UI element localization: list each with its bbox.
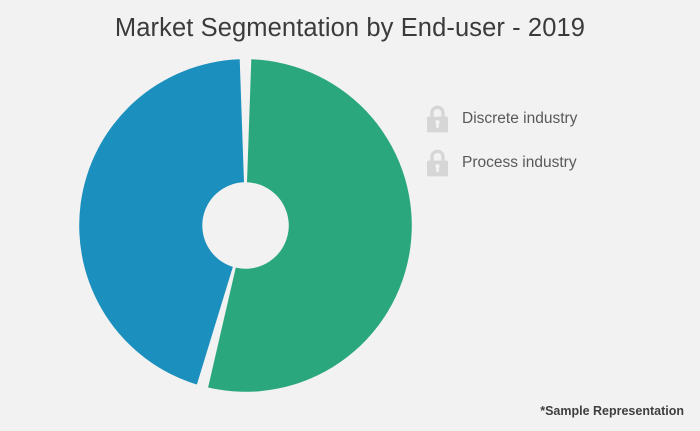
- lock-icon: [424, 148, 451, 178]
- sample-representation-note: *Sample Representation: [540, 404, 684, 418]
- donut-svg: [78, 58, 413, 393]
- legend-item-process-industry[interactable]: Process industry: [424, 143, 644, 183]
- donut-chart-figure: Market Segmentation by End-user - 2019 D…: [0, 0, 700, 431]
- legend-item-discrete-industry[interactable]: Discrete industry: [424, 99, 644, 139]
- pie-slice-discrete-industry[interactable]: [79, 59, 244, 384]
- legend-item-label: Process industry: [462, 155, 577, 171]
- lock-icon: [424, 104, 451, 134]
- donut-chart-plot-area: [78, 58, 413, 393]
- legend-item-label: Discrete industry: [462, 111, 577, 127]
- chart-title: Market Segmentation by End-user - 2019: [0, 14, 700, 43]
- chart-legend: Discrete industry Process industry: [424, 99, 644, 183]
